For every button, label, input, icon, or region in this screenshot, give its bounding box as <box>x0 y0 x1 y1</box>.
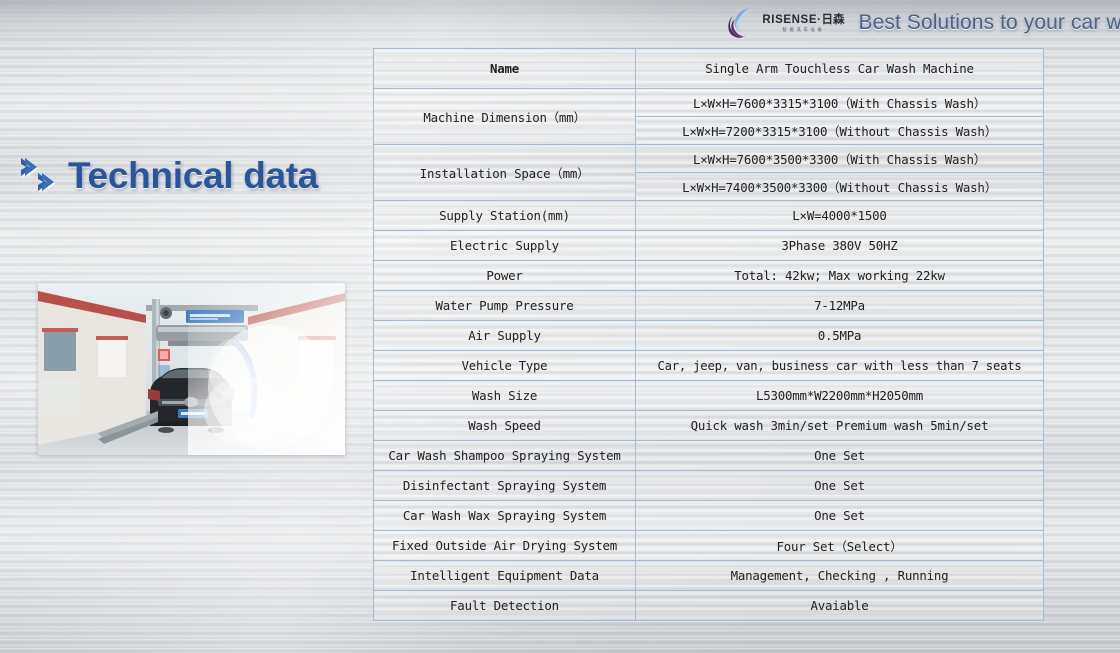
table-row: Intelligent Equipment Data Management, C… <box>374 561 1044 591</box>
row-label: Installation Space（mm） <box>374 145 636 201</box>
row-label: Fixed Outside Air Drying System <box>374 531 636 561</box>
row-label: Disinfectant Spraying System <box>374 471 636 501</box>
row-value-highlight: Four Set（Select） <box>636 531 1044 561</box>
row-value: One Set <box>636 501 1044 531</box>
row-value: L×W×H=7400*3500*3300（Without Chassis Was… <box>636 173 1044 201</box>
table-body: Name Single Arm Touchless Car Wash Machi… <box>374 49 1044 621</box>
row-label: Car Wash Shampoo Spraying System <box>374 441 636 471</box>
table-row: Machine Dimension（mm） L×W×H=7600*3315*31… <box>374 89 1044 117</box>
row-label: Name <box>374 49 636 89</box>
row-value: L×W=4000*1500 <box>636 201 1044 231</box>
logo-wordmark: RISENSE·日森 <box>762 14 844 26</box>
row-label: Wash Speed <box>374 411 636 441</box>
row-value: L×W×H=7600*3500*3300（With Chassis Wash） <box>636 145 1044 173</box>
row-label: Water Pump Pressure <box>374 291 636 321</box>
row-label: Machine Dimension（mm） <box>374 89 636 145</box>
row-value: One Set <box>636 441 1044 471</box>
row-label: Power <box>374 261 636 291</box>
table-row: Supply Station(mm) L×W=4000*1500 <box>374 201 1044 231</box>
row-value: 0.5MPa <box>636 321 1044 351</box>
table-row: Electric Supply 3Phase 380V 50HZ <box>374 231 1044 261</box>
row-label: Vehicle Type <box>374 351 636 381</box>
row-label: Electric Supply <box>374 231 636 261</box>
table-row: Car Wash Shampoo Spraying System One Set <box>374 441 1044 471</box>
row-label: Supply Station(mm) <box>374 201 636 231</box>
row-value: One Set <box>636 471 1044 501</box>
table-row: Wash Size L5300mm*W2200mm*H2050mm <box>374 381 1044 411</box>
risense-logo: RISENSE·日森 智能洗车设备 <box>727 6 844 40</box>
row-label: Air Supply <box>374 321 636 351</box>
table-row: Installation Space（mm） L×W×H=7600*3500*3… <box>374 145 1044 173</box>
row-value: L×W×H=7600*3315*3100（With Chassis Wash） <box>636 89 1044 117</box>
technical-data-table: Name Single Arm Touchless Car Wash Machi… <box>373 48 1044 621</box>
table-row: Name Single Arm Touchless Car Wash Machi… <box>374 49 1044 89</box>
row-value: L5300mm*W2200mm*H2050mm <box>636 381 1044 411</box>
row-value: 7-12MPa <box>636 291 1044 321</box>
row-label: Wash Size <box>374 381 636 411</box>
logo-swoosh-icon <box>727 6 761 40</box>
table-row: Fixed Outside Air Drying System Four Set… <box>374 531 1044 561</box>
table-row: Disinfectant Spraying System One Set <box>374 471 1044 501</box>
header-tagline: Best Solutions to your car was <box>859 11 1120 35</box>
table-row: Fault Detection Avaiable <box>374 591 1044 621</box>
page-header: RISENSE·日森 智能洗车设备 Best Solutions to your… <box>0 0 1120 46</box>
row-value: 3Phase 380V 50HZ <box>636 231 1044 261</box>
table-row: Water Pump Pressure 7-12MPa <box>374 291 1044 321</box>
table-row: Air Supply 0.5MPa <box>374 321 1044 351</box>
row-value: Avaiable <box>636 591 1044 621</box>
table-row: Power Total: 42kw; Max working 22kw <box>374 261 1044 291</box>
logo-text: RISENSE·日森 智能洗车设备 <box>762 14 844 32</box>
section-title-row: Technical data <box>18 150 318 202</box>
row-label: Fault Detection <box>374 591 636 621</box>
car-wash-photo <box>38 283 345 455</box>
row-label: Intelligent Equipment Data <box>374 561 636 591</box>
row-value: Quick wash 3min/set Premium wash 5min/se… <box>636 411 1044 441</box>
row-label: Car Wash Wax Spraying System <box>374 501 636 531</box>
row-value: Total: 42kw; Max working 22kw <box>636 261 1044 291</box>
table-row: Vehicle Type Car, jeep, van, business ca… <box>374 351 1044 381</box>
row-value: Management, Checking , Running <box>636 561 1044 591</box>
row-value: L×W×H=7200*3315*3100（Without Chassis Was… <box>636 117 1044 145</box>
double-chevron-right-icon <box>18 156 64 196</box>
table-row: Car Wash Wax Spraying System One Set <box>374 501 1044 531</box>
logo-subtitle: 智能洗车设备 <box>762 28 844 32</box>
page-title: Technical data <box>68 155 318 197</box>
table-row: Wash Speed Quick wash 3min/set Premium w… <box>374 411 1044 441</box>
row-value: Car, jeep, van, business car with less t… <box>636 351 1044 381</box>
row-value: Single Arm Touchless Car Wash Machine <box>636 49 1044 89</box>
